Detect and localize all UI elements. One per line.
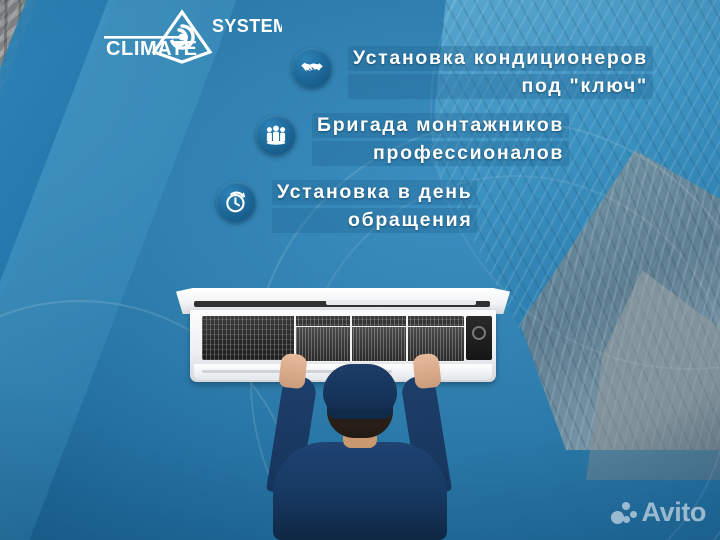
worker-cap (323, 364, 397, 416)
feature-item-turnkey-installation: Установка кондиционеров под "ключ" (0, 46, 720, 99)
installer-worker (243, 358, 475, 540)
promo-poster: CLIMATE SYSTEMS Установка кондиционеров … (0, 0, 720, 540)
ac-filter-panel (295, 326, 465, 362)
logo-word-systems: SYSTEMS (212, 16, 282, 36)
avito-dots-icon (611, 502, 637, 524)
worker-right-hand (412, 353, 441, 390)
avito-label: Avito (642, 499, 707, 526)
feature-item-professional-team: Бригада монтажников профессионалов (0, 113, 720, 166)
feature-text: Установка кондиционеров под "ключ" (348, 46, 653, 99)
handshake-icon (292, 48, 332, 88)
clock-arrow-icon (216, 182, 256, 222)
feature-line-1: Бригада монтажников (312, 113, 569, 138)
feature-text: Бригада монтажников профессионалов (312, 113, 569, 166)
feature-line-1: Установка кондиционеров (348, 46, 653, 71)
worker-left-hand (278, 353, 307, 390)
ac-side-module (466, 316, 492, 360)
avito-watermark: Avito (611, 499, 707, 526)
feature-line-1: Установка в день (272, 180, 477, 205)
feature-line-2: обращения (272, 208, 477, 233)
feature-text: Установка в день обращения (272, 180, 477, 233)
ac-divider (350, 316, 352, 362)
group-of-people-icon (256, 115, 296, 155)
ac-divider (406, 316, 408, 362)
feature-item-same-day-installation: Установка в день обращения (0, 180, 720, 233)
feature-line-2: под "ключ" (348, 74, 653, 99)
feature-line-2: профессионалов (312, 141, 569, 166)
worker-torso (287, 432, 433, 540)
ac-top-highlight (326, 300, 476, 305)
feature-list: Установка кондиционеров под "ключ" Брига… (0, 46, 720, 233)
